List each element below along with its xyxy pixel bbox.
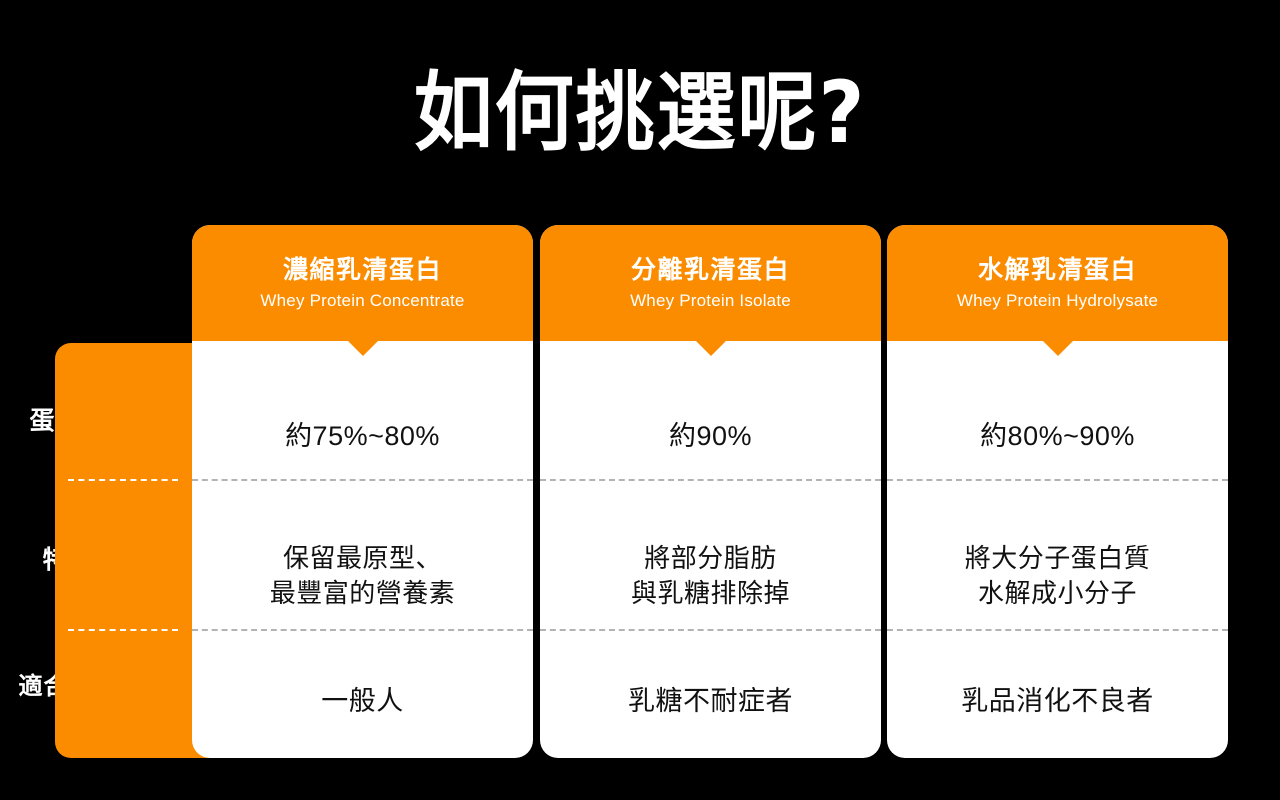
cell-divider-1 bbox=[192, 479, 533, 481]
card-title-en: Whey Protein Isolate bbox=[630, 291, 791, 311]
card-title-en: Whey Protein Hydrolysate bbox=[957, 291, 1158, 311]
cell-feature: 將部分脂肪 與乳糖排除掉 bbox=[540, 541, 881, 610]
cell-suitable-for: 乳糖不耐症者 bbox=[540, 684, 881, 720]
card-title-zh: 水解乳清蛋白 bbox=[978, 255, 1137, 286]
cell-feature: 保留最原型、 最豐富的營養素 bbox=[192, 541, 533, 610]
cell-feature: 將大分子蛋白質 水解成小分子 bbox=[887, 541, 1228, 610]
cell-feature-line1: 保留最原型、 bbox=[192, 541, 533, 576]
card-title-en: Whey Protein Concentrate bbox=[260, 291, 464, 311]
card-body: 約80%~90% 將大分子蛋白質 水解成小分子 乳品消化不良者 bbox=[887, 341, 1228, 758]
cell-feature-line2: 與乳糖排除掉 bbox=[540, 576, 881, 611]
header-notch-triangle-icon bbox=[1043, 341, 1073, 356]
cell-feature-line1: 將部分脂肪 bbox=[540, 541, 881, 576]
cell-protein: 約80%~90% bbox=[887, 419, 1228, 455]
cell-feature-line2: 水解成小分子 bbox=[887, 576, 1228, 611]
infographic-canvas: 如何挑選呢? 蛋白質 特色 適合對象 濃縮乳清蛋白 Whey Protein C… bbox=[0, 0, 1280, 800]
cell-suitable-for: 一般人 bbox=[192, 684, 533, 720]
cell-suitable-for: 乳品消化不良者 bbox=[887, 684, 1228, 720]
card-header: 濃縮乳清蛋白 Whey Protein Concentrate bbox=[192, 225, 533, 341]
cell-divider-1 bbox=[887, 479, 1228, 481]
page-title: 如何挑選呢? bbox=[51, 68, 1229, 158]
panel-divider-2 bbox=[68, 629, 178, 631]
header-notch-triangle-icon bbox=[696, 341, 726, 356]
header-notch-triangle-icon bbox=[348, 341, 378, 356]
card-title-zh: 分離乳清蛋白 bbox=[631, 255, 790, 286]
cell-divider-2 bbox=[540, 629, 881, 631]
card-whey-protein-hydrolysate[interactable]: 水解乳清蛋白 Whey Protein Hydrolysate 約80%~90%… bbox=[887, 225, 1228, 758]
cell-feature-line1: 將大分子蛋白質 bbox=[887, 541, 1228, 576]
card-header: 水解乳清蛋白 Whey Protein Hydrolysate bbox=[887, 225, 1228, 341]
card-body: 約90% 將部分脂肪 與乳糖排除掉 乳糖不耐症者 bbox=[540, 341, 881, 758]
cell-divider-1 bbox=[540, 479, 881, 481]
cell-divider-2 bbox=[192, 629, 533, 631]
panel-divider-1 bbox=[68, 479, 178, 481]
card-whey-protein-concentrate[interactable]: 濃縮乳清蛋白 Whey Protein Concentrate 約75%~80%… bbox=[192, 225, 533, 758]
card-body: 約75%~80% 保留最原型、 最豐富的營養素 一般人 bbox=[192, 341, 533, 758]
cell-protein: 約75%~80% bbox=[192, 419, 533, 455]
cell-protein: 約90% bbox=[540, 419, 881, 455]
cell-feature-line2: 最豐富的營養素 bbox=[192, 576, 533, 611]
card-whey-protein-isolate[interactable]: 分離乳清蛋白 Whey Protein Isolate 約90% 將部分脂肪 與… bbox=[540, 225, 881, 758]
cell-divider-2 bbox=[887, 629, 1228, 631]
card-title-zh: 濃縮乳清蛋白 bbox=[283, 255, 442, 286]
card-header: 分離乳清蛋白 Whey Protein Isolate bbox=[540, 225, 881, 341]
